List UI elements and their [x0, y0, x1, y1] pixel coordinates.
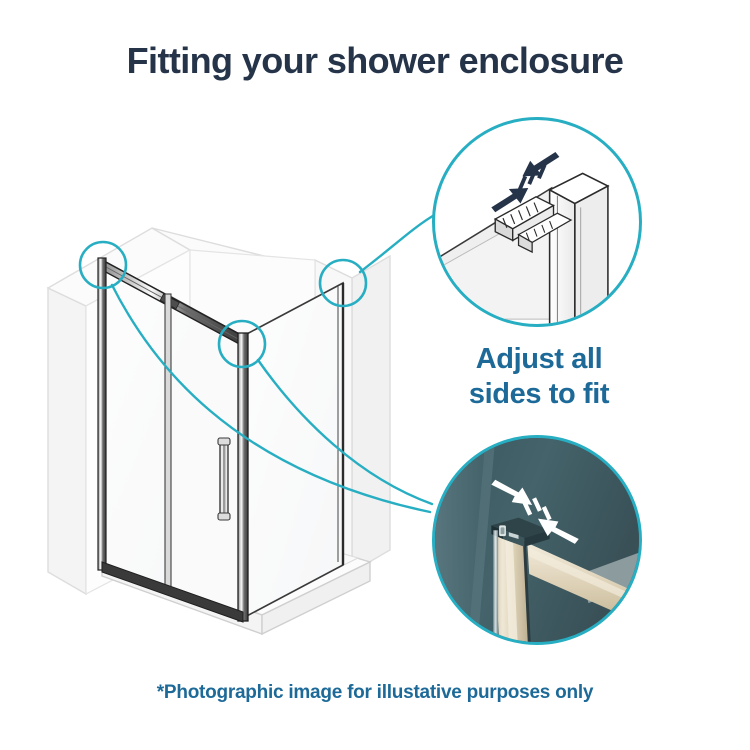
handle-shadow	[223, 444, 225, 514]
caption-adjust-all-sides: Adjust all sides to fit	[430, 342, 648, 413]
left-stile	[98, 258, 106, 570]
door-frame-chrome-edge	[493, 530, 498, 642]
door-frame-photo	[435, 438, 639, 642]
shower-enclosure-illustration	[30, 110, 430, 670]
page-title: Fitting your shower enclosure	[0, 41, 750, 81]
corner-post	[238, 333, 248, 621]
sliding-door-leaf	[168, 295, 243, 618]
caption-line-2: sides to fit	[430, 377, 648, 412]
side-panel-glass	[243, 283, 343, 618]
handle-mount-top	[218, 438, 230, 445]
left-wall-front	[48, 288, 86, 594]
footnote-disclaimer: *Photographic image for illustative purp…	[0, 682, 750, 704]
infographic-canvas: Fitting your shower enclosure	[0, 0, 750, 750]
back-wall-right-front	[352, 256, 390, 572]
wall-profile-side	[575, 186, 608, 324]
door-edge-stile	[165, 294, 171, 594]
wall-profile-drawing	[435, 120, 639, 324]
handle-mount-bottom	[218, 513, 230, 520]
callout-wall-profile-detail[interactable]	[432, 117, 642, 327]
side-glass-panel	[243, 283, 343, 618]
callout-door-frame-detail[interactable]	[432, 435, 642, 645]
caption-line-1: Adjust all	[430, 342, 648, 377]
door-handle	[218, 438, 230, 520]
